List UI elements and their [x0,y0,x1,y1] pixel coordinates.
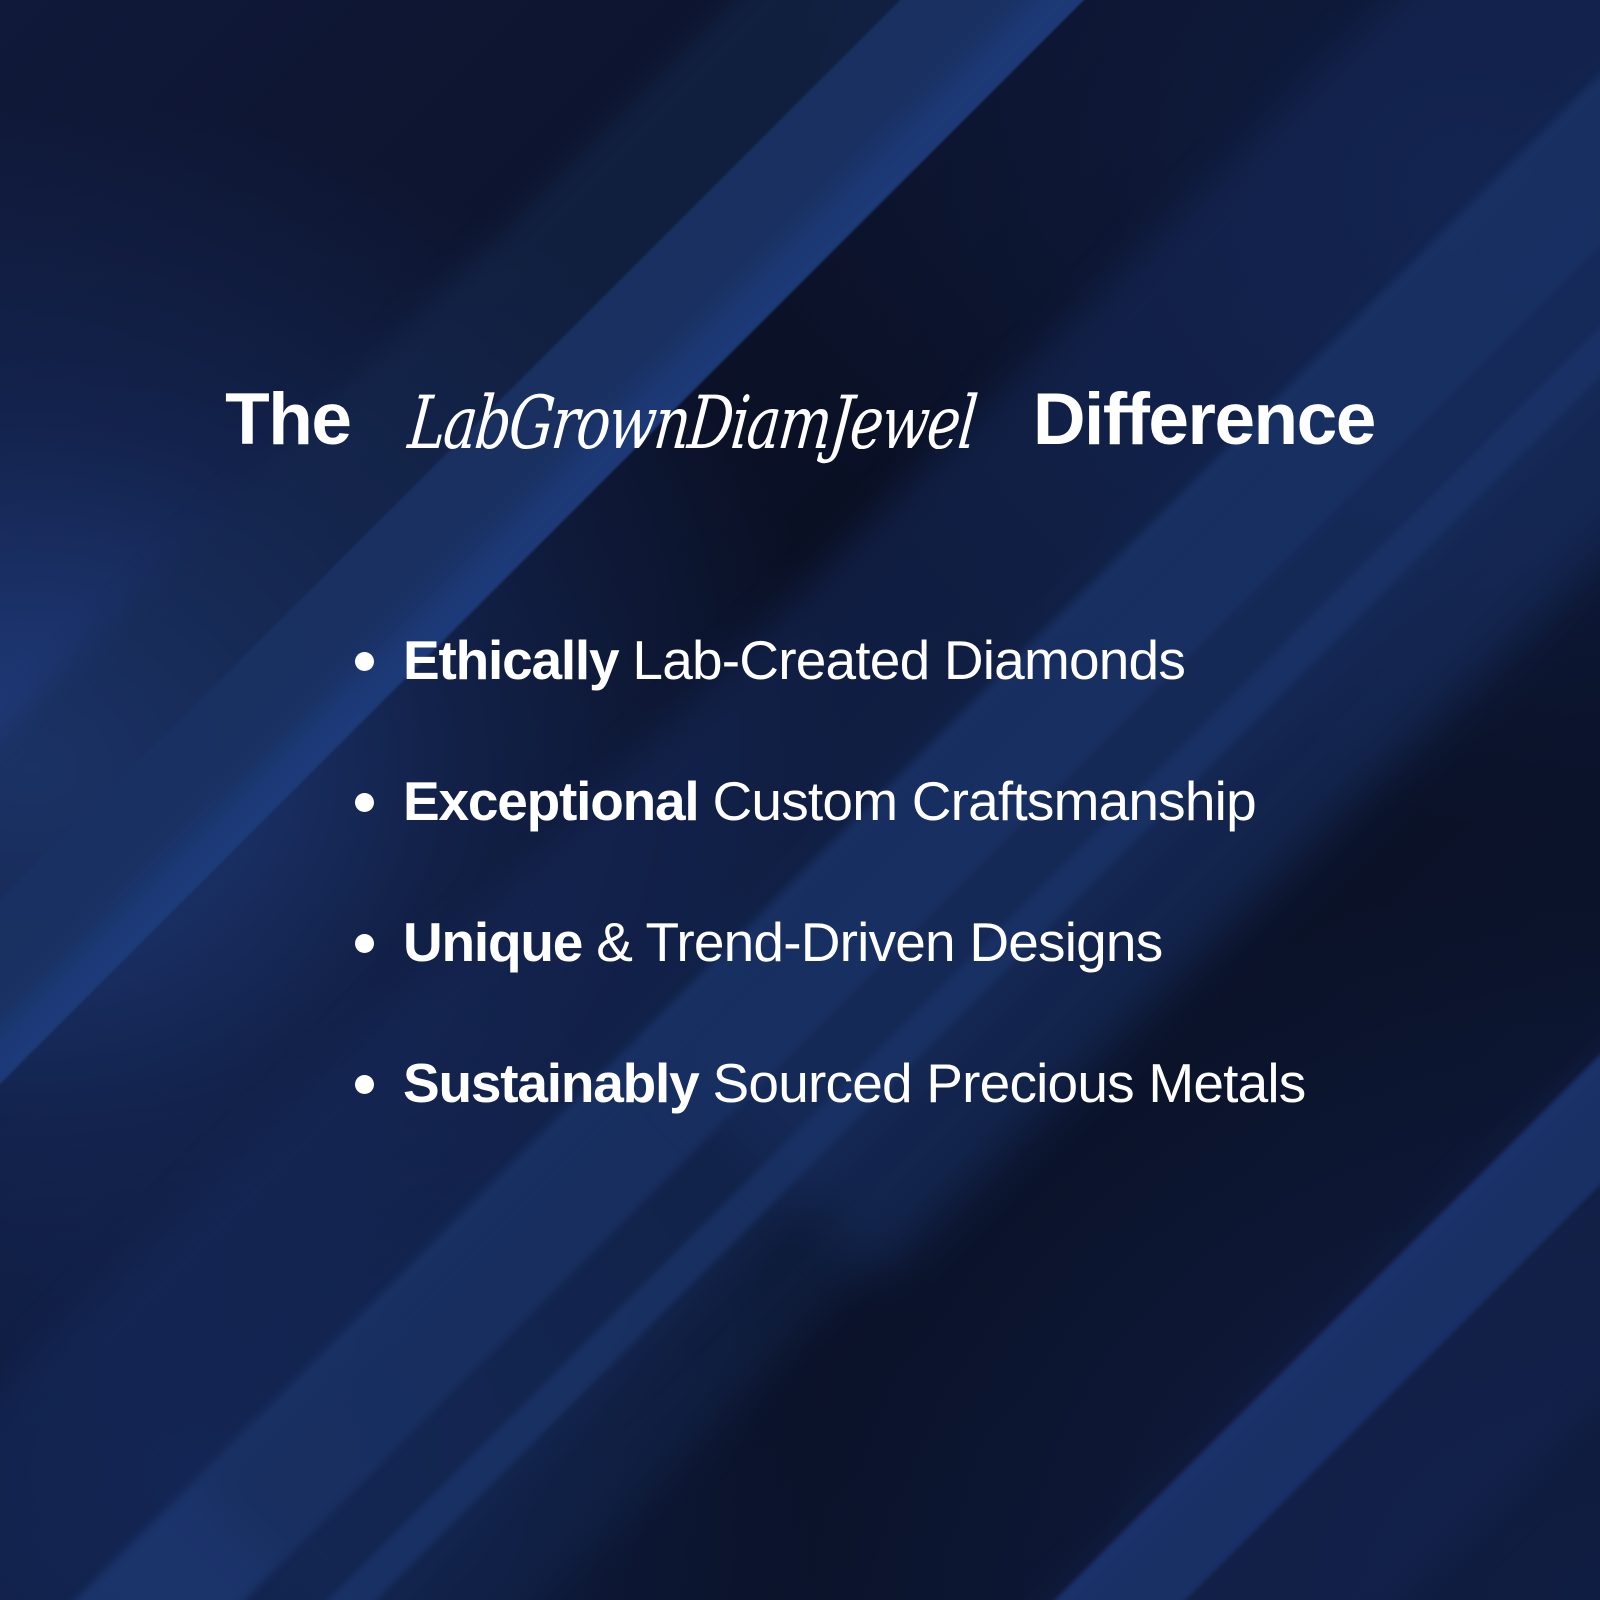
poster-canvas: The LabGrownDiamJewel Difference Ethical… [0,0,1600,1600]
list-item-keyword: Exceptional [403,769,699,833]
list-item: EthicallyLab-Created Diamonds [355,617,1555,703]
bullet-dot-icon [355,793,374,812]
list-item-text: Lab-Created Diamonds [632,628,1185,692]
bullet-dot-icon [355,1075,374,1094]
title-prefix: The [225,383,350,456]
page-title: The LabGrownDiamJewel Difference [0,383,1600,456]
list-item: SustainablySourced Precious Metals [355,1040,1555,1126]
list-item-text: & Trend-Driven Designs [596,910,1162,974]
list-item: Unique& Trend-Driven Designs [355,899,1555,985]
bullet-dot-icon [355,934,374,953]
list-item-text: Sourced Precious Metals [713,1051,1306,1115]
list-item-keyword: Ethically [403,628,618,692]
list-item-keyword: Sustainably [403,1051,699,1115]
brand-script-name: LabGrownDiamJewel [400,387,985,460]
title-suffix: Difference [1033,383,1375,456]
list-item: ExceptionalCustom Craftsmanship [355,758,1555,844]
list-item-keyword: Unique [403,910,582,974]
bullet-dot-icon [355,652,374,671]
feature-list: EthicallyLab-Created DiamondsExceptional… [355,617,1555,1126]
list-item-text: Custom Craftsmanship [713,769,1256,833]
